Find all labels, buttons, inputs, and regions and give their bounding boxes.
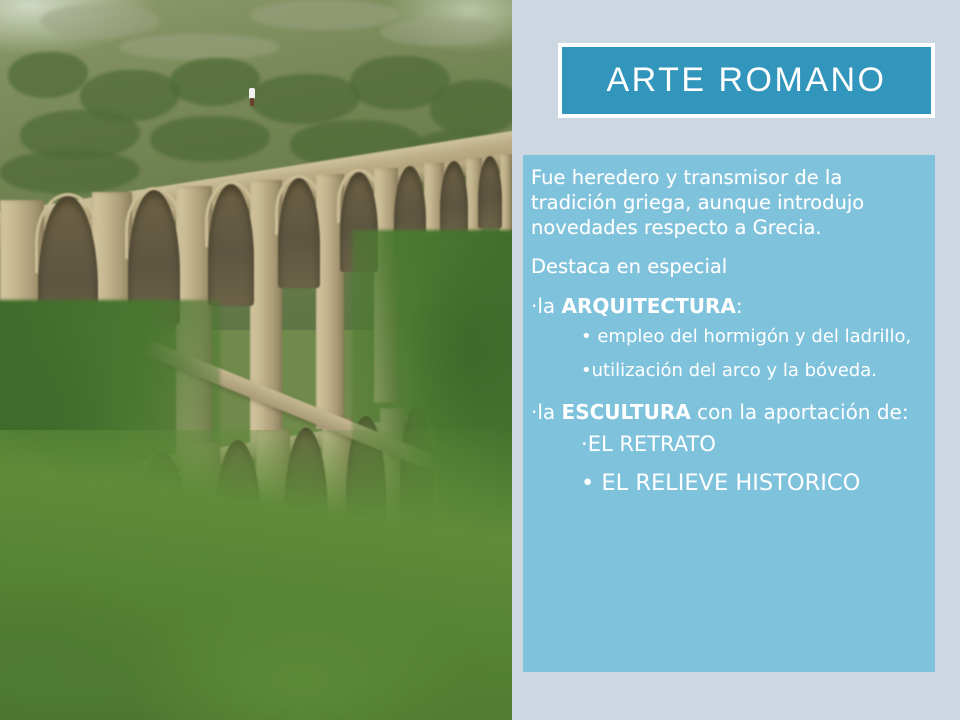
bullet-text-after: con la aportación de: — [691, 400, 909, 424]
aqueduct-photo — [0, 0, 512, 720]
hill-rock — [250, 0, 400, 30]
bullet-hormigon: • empleo del hormigón y del ladrillo, — [531, 325, 923, 349]
person-on-aqueduct-legs — [250, 98, 254, 106]
bullet-marker: • — [581, 470, 594, 496]
hill-rock — [40, 4, 160, 38]
bullet-el-retrato: ·EL RETRATO — [531, 431, 923, 458]
bullet-text: utilización del arco y la bóveda. — [592, 360, 877, 381]
bullet-marker: • — [581, 326, 592, 347]
bullet-el-relieve-historico: • EL RELIEVE HISTORICO — [531, 470, 923, 497]
bullet-text-before: la — [537, 294, 561, 318]
bullet-text: EL RETRATO — [588, 432, 716, 456]
bullet-text-bold: ARQUITECTURA — [562, 294, 736, 318]
bullet-text: empleo del hormigón y del ladrillo, — [592, 326, 912, 347]
page-title: ARTE ROMANO — [606, 61, 886, 100]
bullet-text-after: : — [736, 294, 743, 318]
slide-body-panel: Fue heredero y transmisor de la tradició… — [523, 155, 935, 672]
bullet-text-bold: ESCULTURA — [562, 400, 691, 424]
bullet-arquitectura: ·la ARQUITECTURA: — [531, 293, 923, 319]
hill-rock — [380, 18, 500, 46]
body-paragraph-destaca: Destaca en especial — [531, 254, 923, 279]
bullet-text-before: la — [537, 400, 561, 424]
bullet-marker: · — [581, 432, 588, 456]
slide: ARTE ROMANO Fue heredero y transmisor de… — [0, 0, 960, 720]
bullet-escultura: ·la ESCULTURA con la aportación de: — [531, 399, 923, 425]
foreground-grass — [0, 430, 512, 720]
bullet-text: EL RELIEVE HISTORICO — [594, 470, 860, 496]
hill-rock — [120, 34, 280, 60]
scrub-bush — [430, 80, 512, 136]
bullet-arco-boveda: •utilización del arco y la bóveda. — [531, 359, 923, 383]
body-paragraph-intro: Fue heredero y transmisor de la tradició… — [531, 165, 923, 240]
bullet-marker: • — [581, 360, 592, 381]
slide-title-box: ARTE ROMANO — [558, 43, 935, 118]
